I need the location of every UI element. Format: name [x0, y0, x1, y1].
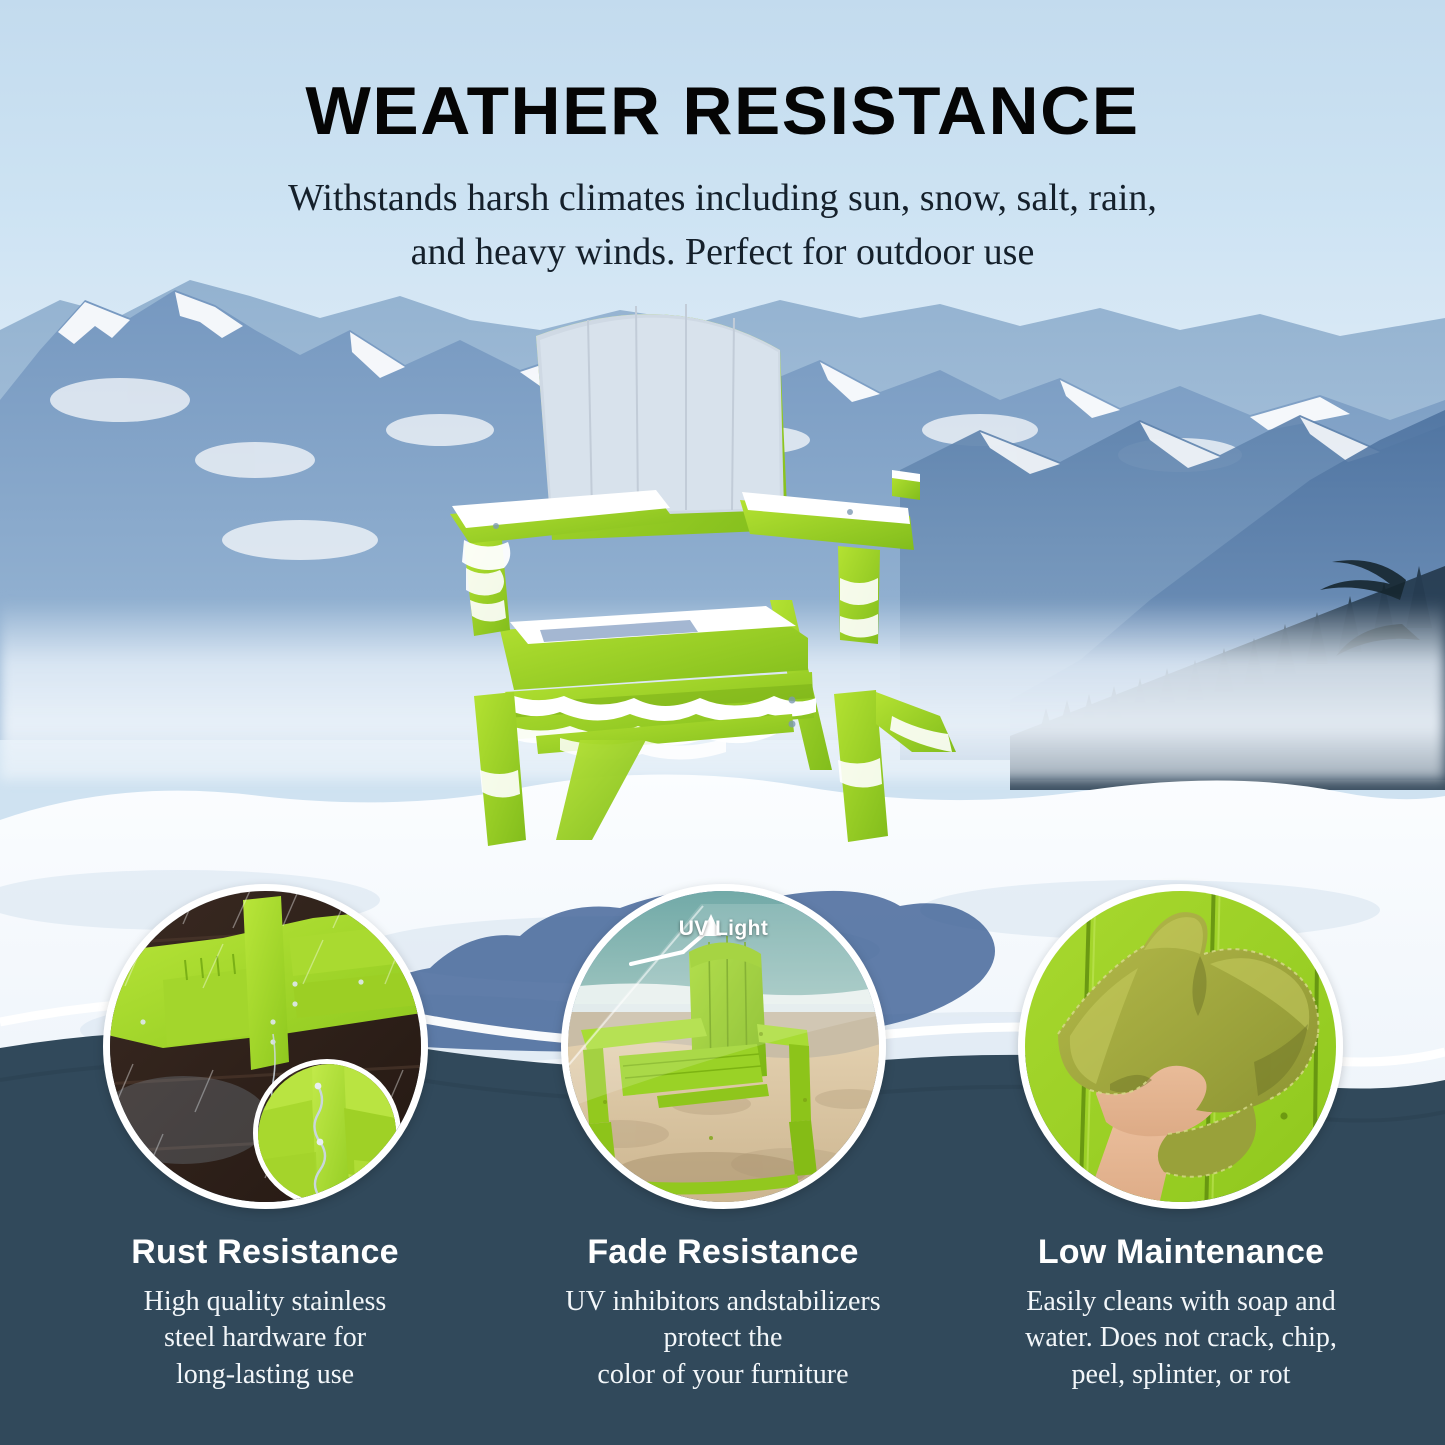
feature-body-line-2: water. Does not crack, chip,	[966, 1320, 1396, 1356]
feature-body-line-2: protect the	[508, 1320, 938, 1356]
subtitle-line-2: and heavy winds. Perfect for outdoor use	[0, 226, 1445, 280]
page-subtitle: Withstands harsh climates including sun,…	[0, 172, 1445, 280]
feature-body-line-1: UV inhibitors andstabilizers	[508, 1284, 938, 1320]
hero-product-chair	[440, 300, 1000, 860]
uv-light-label: UV Light	[568, 917, 879, 941]
feature-text-fade-resistance: Fade Resistance UV inhibitors andstabili…	[508, 1233, 938, 1393]
feature-title-low-maintenance: Low Maintenance	[966, 1233, 1396, 1272]
page-title: WEATHER RESISTANCE	[0, 72, 1445, 150]
feature-image-low-maintenance	[1018, 884, 1343, 1209]
feature-body-line-1: High quality stainless	[50, 1284, 480, 1320]
feature-image-fade-resistance: UV Light	[561, 884, 886, 1209]
feature-body-line-3: long-lasting use	[50, 1357, 480, 1393]
feature-text-rust-resistance: Rust Resistance High quality stainless s…	[50, 1233, 480, 1393]
feature-body-line-1: Easily cleans with soap and	[966, 1284, 1396, 1320]
feature-body-fade-resistance: UV inhibitors andstabilizers protect the…	[508, 1284, 938, 1393]
feature-text-low-maintenance: Low Maintenance Easily cleans with soap …	[966, 1233, 1396, 1393]
feature-body-line-3: peel, splinter, or rot	[966, 1357, 1396, 1393]
feature-title-fade-resistance: Fade Resistance	[508, 1233, 938, 1272]
feature-body-low-maintenance: Easily cleans with soap and water. Does …	[966, 1284, 1396, 1393]
feature-image-rust-resistance	[103, 884, 428, 1209]
feature-body-rust-resistance: High quality stainless steel hardware fo…	[50, 1284, 480, 1393]
feature-title-rust-resistance: Rust Resistance	[50, 1233, 480, 1272]
subtitle-line-1: Withstands harsh climates including sun,…	[0, 172, 1445, 226]
feature-body-line-3: color of your furniture	[508, 1357, 938, 1393]
feature-body-line-2: steel hardware for	[50, 1320, 480, 1356]
feature-inset-chain-detail	[253, 1059, 401, 1207]
infographic-canvas: WEATHER RESISTANCE Withstands harsh clim…	[0, 0, 1445, 1445]
